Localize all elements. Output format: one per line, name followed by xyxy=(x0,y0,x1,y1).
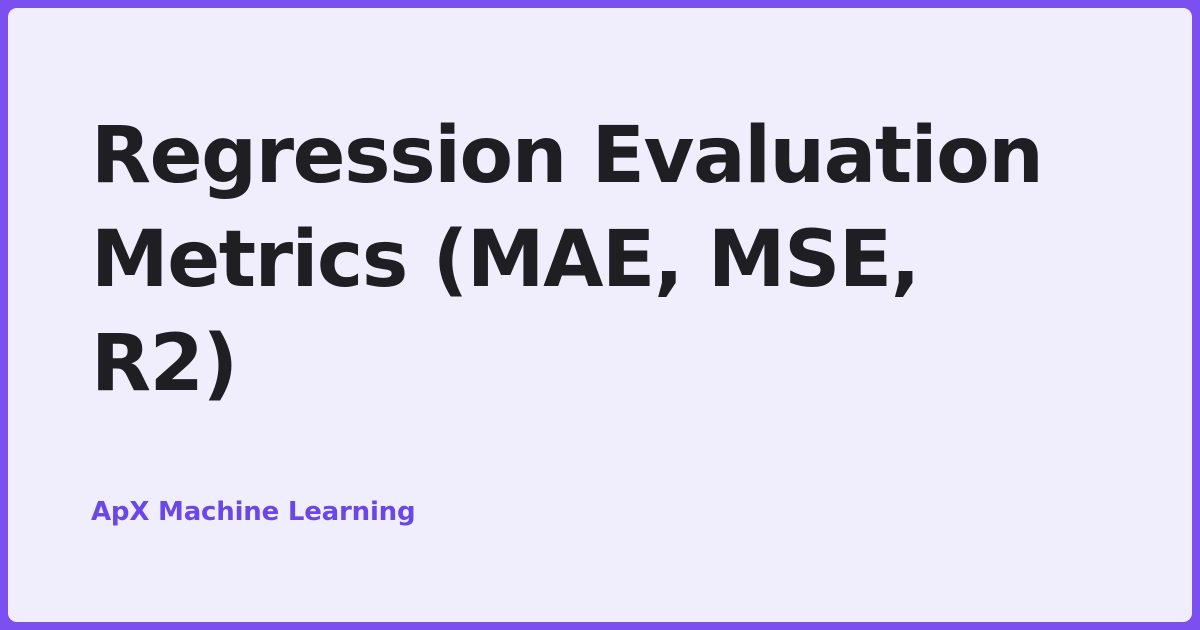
brand-block: ApX Machine Learning xyxy=(91,495,1120,529)
brand-name: ApX Machine Learning xyxy=(91,495,1120,529)
card-content: Regression Evaluation Metrics (MAE, MSE,… xyxy=(91,8,1120,622)
og-card-frame: Regression Evaluation Metrics (MAE, MSE,… xyxy=(0,0,1200,630)
title-block: Regression Evaluation Metrics (MAE, MSE,… xyxy=(91,104,1120,416)
card-surface: Regression Evaluation Metrics (MAE, MSE,… xyxy=(8,8,1192,622)
page-title: Regression Evaluation Metrics (MAE, MSE,… xyxy=(91,104,1051,416)
